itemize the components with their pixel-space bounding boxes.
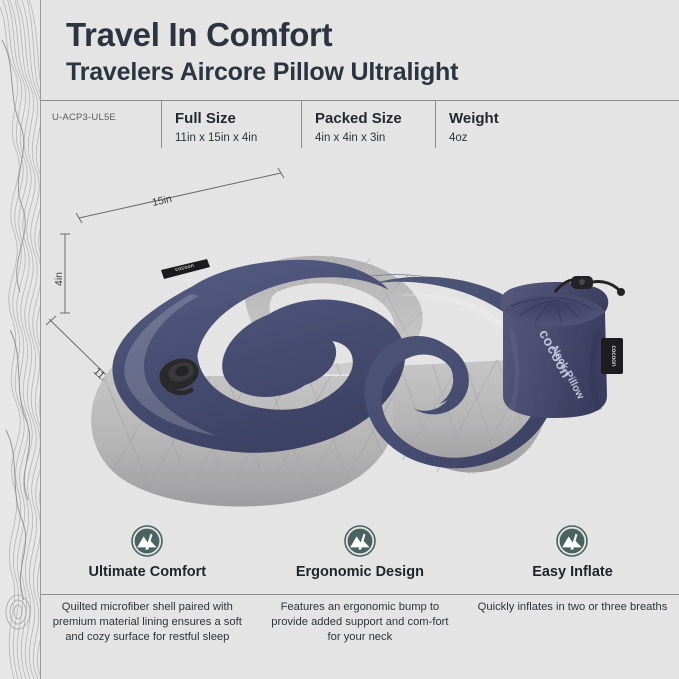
mountain-icon	[254, 518, 467, 564]
spec-value: 4in x 4in x 3in	[315, 131, 435, 147]
mountain-icon-glyph	[131, 525, 163, 557]
feature-title: Ultimate Comfort	[41, 564, 254, 590]
features-divider	[41, 594, 679, 595]
feature-description: Quickly inflates in two or three breaths	[466, 600, 679, 644]
pillow-brand-tag: cocoon	[161, 259, 210, 279]
spec-full-size: Full Size 11in x 15in x 4in	[161, 101, 301, 146]
spec-label: Weight	[449, 110, 575, 129]
spec-packed-size: Packed Size 4in x 4in x 3in	[301, 101, 435, 146]
feature-column-easy-inflate: Easy Inflate	[466, 518, 679, 590]
stuff-sack-tag: cocoon	[601, 338, 623, 374]
mountain-icon-glyph	[556, 525, 588, 557]
header: Travel In Comfort Travelers Aircore Pill…	[41, 0, 679, 87]
features-section: Ultimate Comfort Ergonomic Design	[41, 518, 679, 679]
product-illustration-stage: 15in 4in 11in	[41, 160, 679, 510]
stuff-sack-tag-label: cocoon	[610, 346, 617, 367]
dimension-label-height: 4in	[53, 272, 65, 286]
feature-title: Easy Inflate	[466, 564, 679, 590]
spec-value: 4oz	[449, 131, 575, 147]
spec-weight: Weight 4oz	[435, 101, 575, 146]
features-title-grid: Ultimate Comfort Ergonomic Design	[41, 518, 679, 590]
feature-description: Features an ergonomic bump to provide ad…	[254, 600, 467, 644]
product-illustration: 15in 4in 11in	[41, 160, 679, 510]
dimension-callout-length	[76, 168, 284, 223]
dimension-label-length: 15in	[151, 193, 173, 209]
sku-text: U-ACP3-UL5E	[52, 112, 161, 123]
mountain-icon	[466, 518, 679, 564]
mountain-icon-glyph	[344, 525, 376, 557]
feature-title: Ergonomic Design	[254, 564, 467, 590]
features-description-grid: Quilted microfiber shell paired with pre…	[41, 600, 679, 644]
stuff-sack: cocoon cocoon Neck Pillow	[500, 276, 625, 418]
topographic-lines-icon	[0, 0, 40, 679]
feature-description: Quilted microfiber shell paired with pre…	[41, 600, 254, 644]
feature-column-ergonomic-design: Ergonomic Design	[254, 518, 467, 590]
spec-value: 11in x 15in x 4in	[175, 131, 301, 147]
product-infographic: Travel In Comfort Travelers Aircore Pill…	[0, 0, 679, 679]
spec-label: Packed Size	[315, 110, 435, 129]
page-title: Travel In Comfort	[66, 16, 679, 54]
sku-cell: U-ACP3-UL5E	[41, 101, 161, 123]
topographic-pattern-strip	[0, 0, 40, 679]
mountain-icon	[41, 518, 254, 564]
feature-column-ultimate-comfort: Ultimate Comfort	[41, 518, 254, 590]
spec-row: U-ACP3-UL5E Full Size 11in x 15in x 4in …	[41, 101, 679, 159]
spec-label: Full Size	[175, 110, 301, 129]
content-column: Travel In Comfort Travelers Aircore Pill…	[41, 0, 679, 679]
page-subtitle: Travelers Aircore Pillow Ultralight	[66, 57, 679, 87]
